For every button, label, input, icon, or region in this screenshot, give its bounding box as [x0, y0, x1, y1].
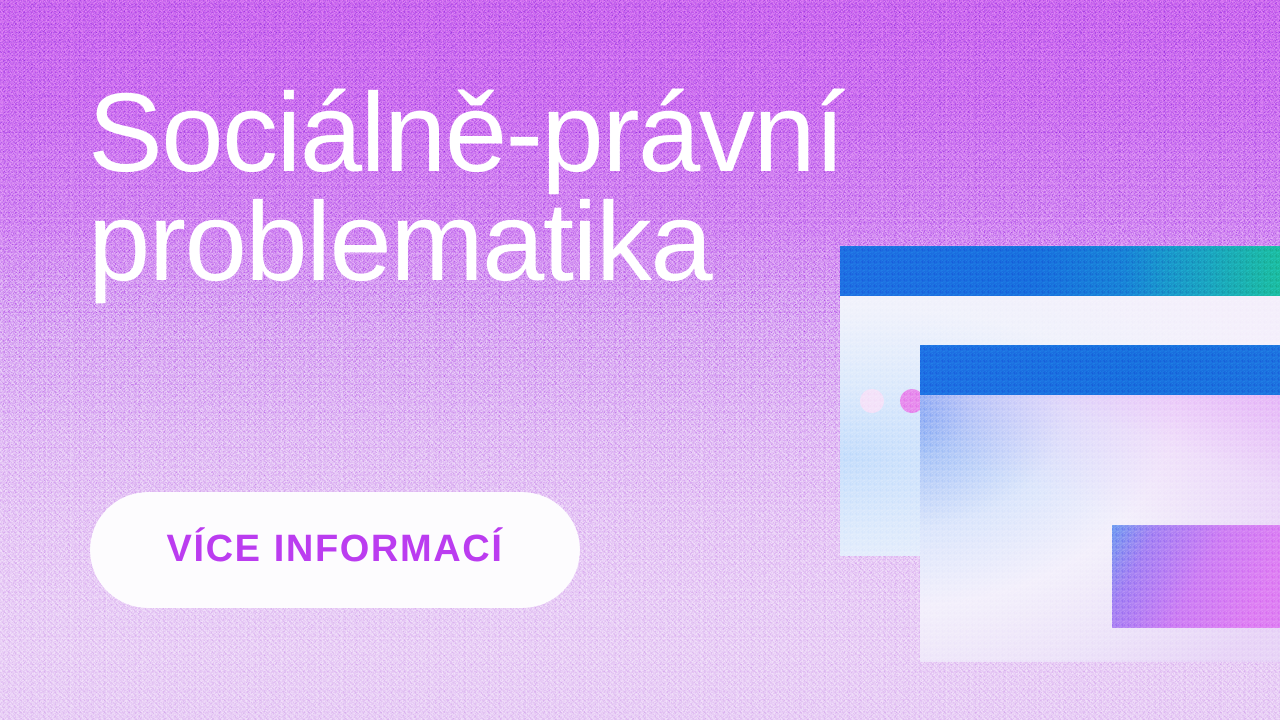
window-dot-light-icon: [860, 389, 884, 413]
browser-window-front: [920, 345, 1280, 662]
browser-window-back-dots: [860, 389, 924, 413]
browser-window-front-titlebar: [920, 345, 1280, 395]
magenta-gradient-block: [1112, 525, 1280, 628]
window-dot-pink-icon: [900, 389, 924, 413]
window-dot-pink-icon: [980, 492, 1004, 516]
promo-banner: Sociálně-právní problematika VÍCE INFORM…: [0, 0, 1280, 720]
more-information-button[interactable]: VÍCE INFORMACÍ: [90, 492, 580, 608]
browser-window-front-dots: [940, 492, 1004, 516]
window-dot-light-icon: [940, 492, 964, 516]
browser-window-front-grain: [920, 345, 1280, 662]
page-title: Sociálně-právní problematika: [88, 78, 918, 296]
browser-window-front-body: [920, 395, 1280, 662]
browser-window-back-body: [840, 296, 1280, 556]
